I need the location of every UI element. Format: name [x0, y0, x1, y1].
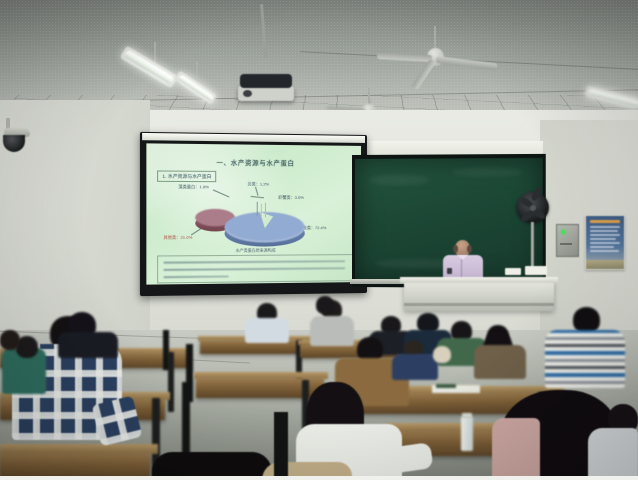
wall-control-box[interactable]	[556, 224, 579, 257]
desk-leg	[163, 330, 169, 370]
projected-slide: 一、水产资源与水产蛋白 1. 水产资源与水产蛋白 藻类蛋白：1.8% 贝类：1.…	[146, 143, 361, 284]
desk-surface	[0, 444, 158, 454]
lecturer-pocket-item	[447, 268, 452, 274]
student-head	[316, 296, 334, 314]
pie-slice-thin-2	[261, 204, 262, 217]
bottle-cap	[462, 413, 472, 418]
water-bottle	[461, 417, 473, 451]
light-rod	[154, 42, 156, 64]
poster-text-line	[590, 242, 620, 244]
lecturer-hair	[453, 245, 458, 253]
podium-object	[505, 268, 521, 275]
wall-fan-hub	[530, 205, 536, 211]
slide-body-line	[163, 275, 228, 278]
wall-fan-pole	[531, 222, 534, 268]
lecturer-hair	[467, 245, 472, 253]
slide-title: 一、水产资源与水产蛋白	[146, 157, 361, 168]
pie-label-top-center: 贝类：1.2%	[247, 181, 269, 187]
desk-surface	[194, 372, 328, 379]
student-shoulder	[492, 418, 540, 480]
chalk-smear	[452, 168, 523, 176]
classroom-photo: 一、水产资源与水产蛋白 1. 水产资源与水产蛋白 藻类蛋白：1.8% 贝类：1.…	[0, 0, 638, 480]
projector-body-top	[240, 74, 292, 88]
lecture-podium	[404, 281, 554, 311]
slide-subtitle: 1. 水产资源与水产蛋白	[157, 170, 217, 182]
podium-edge	[404, 303, 554, 306]
student-head	[0, 330, 20, 350]
student-body-white-shirt	[245, 318, 289, 343]
control-box-led-icon	[561, 230, 565, 234]
chair-frame	[274, 412, 288, 480]
poster-text-line	[590, 238, 616, 240]
poster-text-line	[590, 230, 618, 232]
student-body-white-shirt	[588, 428, 638, 480]
desk-leg	[182, 382, 190, 454]
pie-slice-thin-3	[265, 203, 266, 217]
student-body	[392, 354, 438, 380]
poster-headline	[590, 220, 620, 223]
poster-text-line	[590, 226, 620, 228]
poster-text-line	[590, 234, 620, 236]
slide-body-line	[163, 267, 345, 271]
slide-body-box	[157, 254, 353, 283]
photo-bottom-border	[0, 476, 638, 480]
student-body	[58, 332, 118, 358]
poster-text-line	[590, 250, 619, 252]
projector-lens	[243, 90, 252, 97]
student-head	[433, 346, 451, 363]
screen-roller-housing	[142, 133, 365, 143]
chalk-smear	[369, 175, 429, 185]
projection-screen: 一、水产资源与水产蛋白 1. 水产资源与水产蛋白 藻类蛋白：1.8% 贝类：1.…	[140, 132, 367, 296]
paper-sheet	[436, 384, 456, 388]
student-body	[310, 316, 354, 346]
slide-body-line	[163, 260, 345, 264]
student-body	[474, 345, 526, 379]
podium-object	[525, 266, 547, 275]
podium-surface	[400, 277, 558, 283]
pie-label-top-left: 藻类蛋白：1.8%	[178, 184, 209, 190]
control-box-slot	[560, 243, 572, 245]
wall-poster	[585, 215, 625, 270]
student-body-striped-sweater	[545, 330, 625, 388]
poster-image-band	[586, 260, 624, 269]
poster-text-line	[590, 246, 614, 248]
pie-slice-thin-1	[257, 202, 258, 216]
